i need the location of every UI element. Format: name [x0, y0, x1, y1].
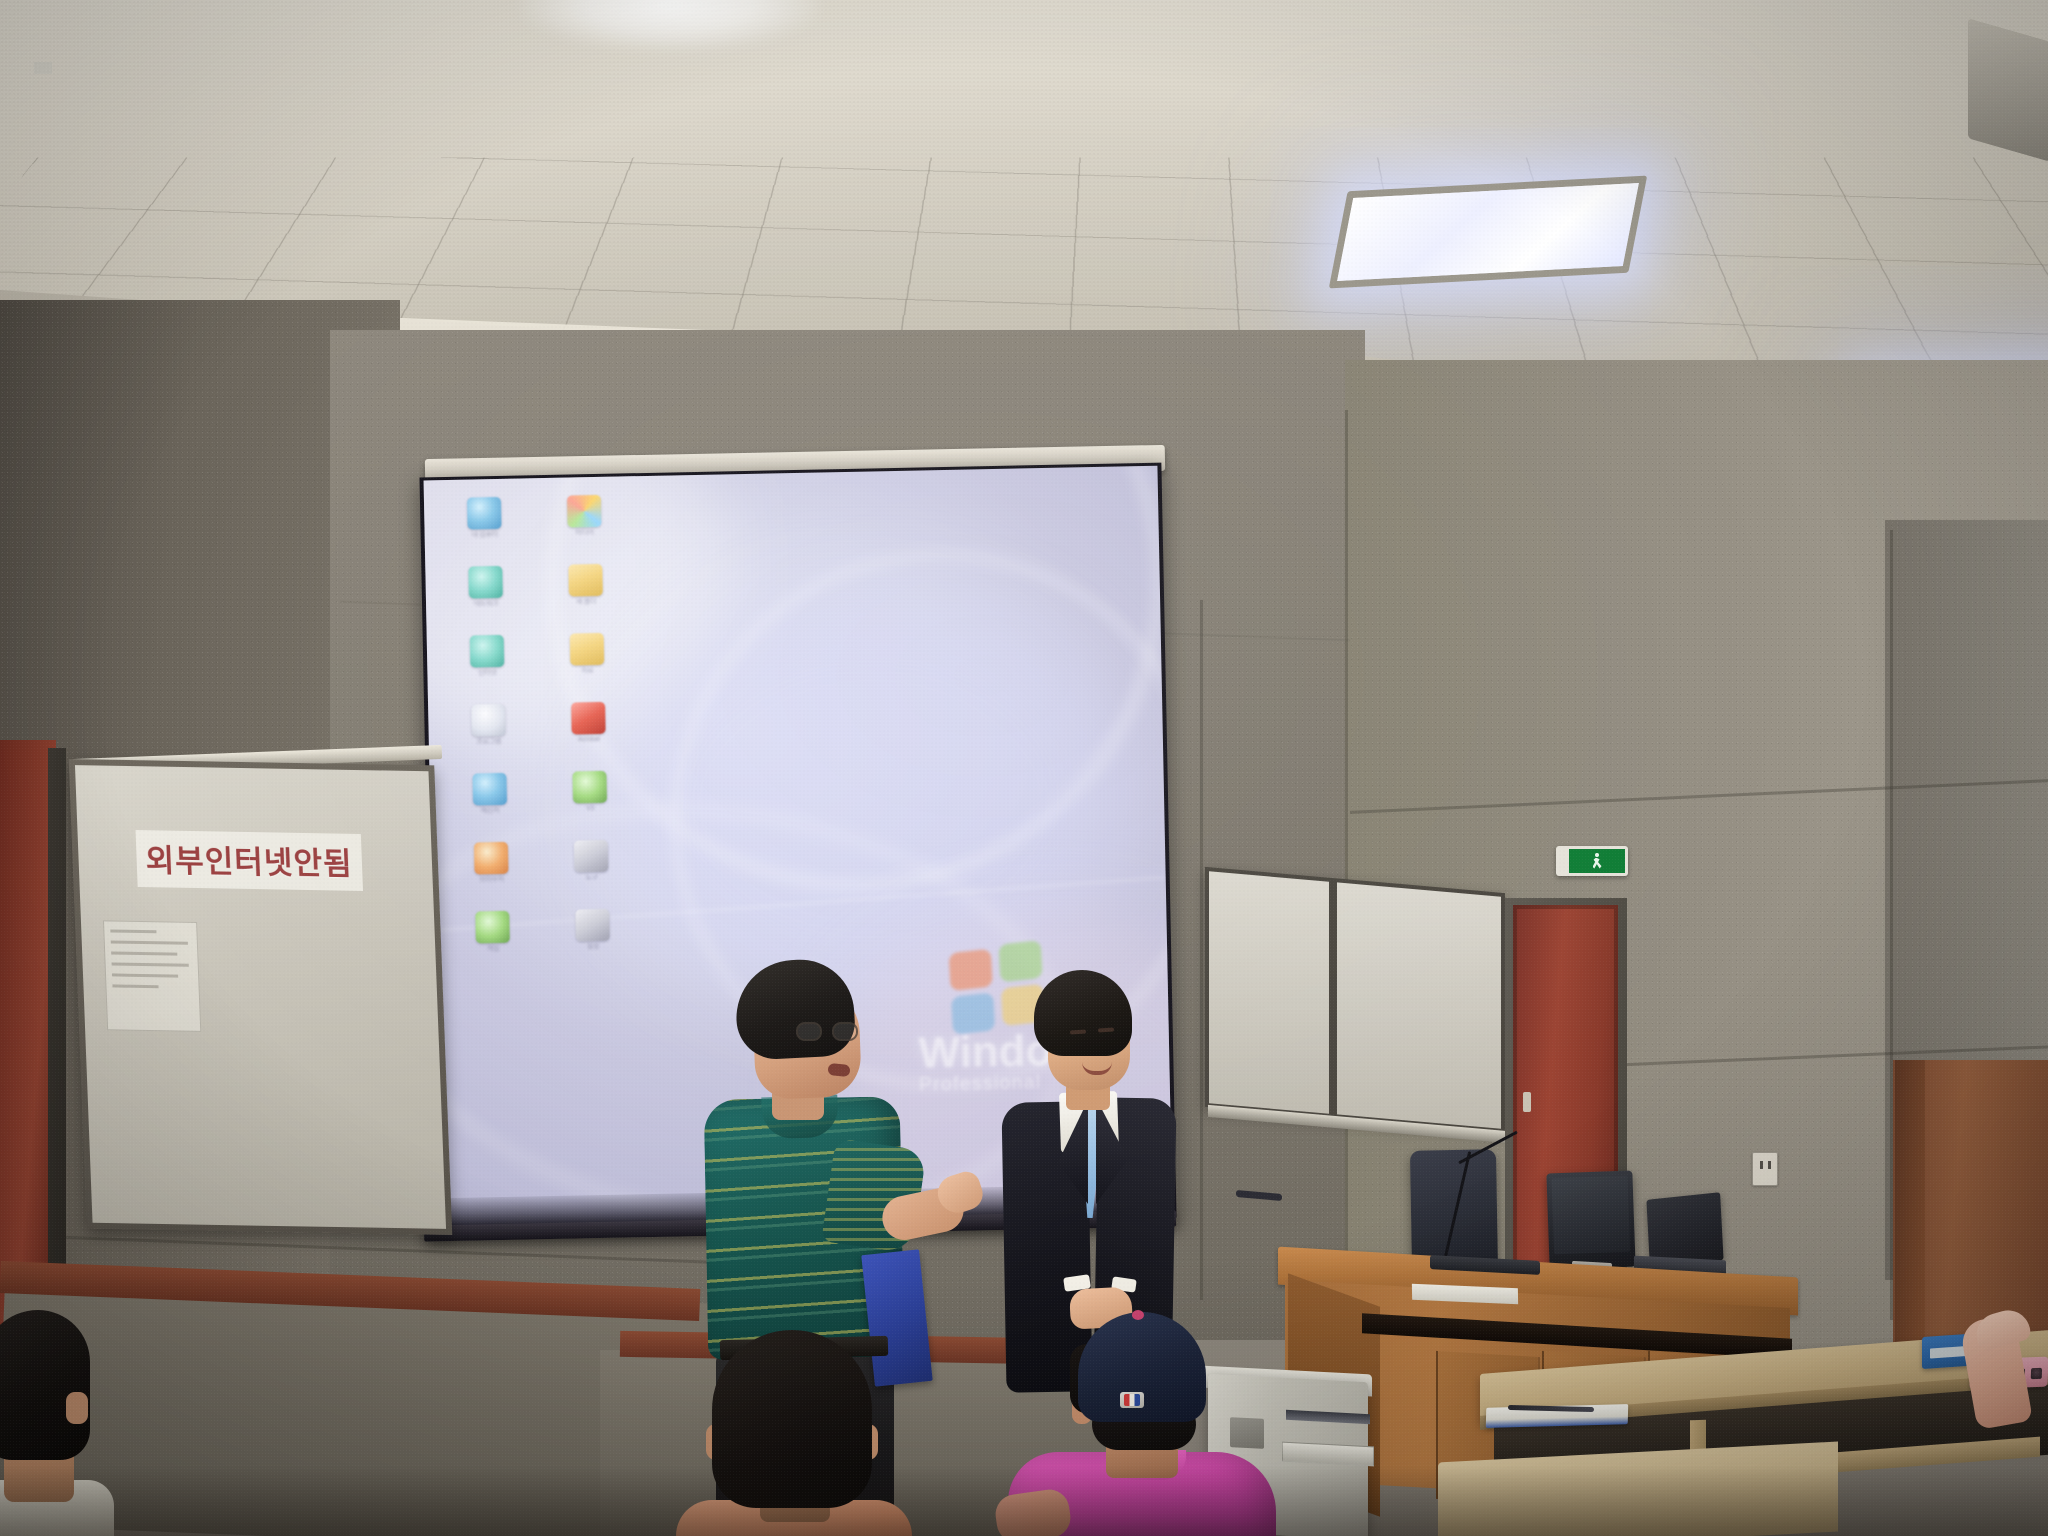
ceiling-light-glow-left — [520, 0, 820, 50]
game-icon[interactable] — [475, 911, 510, 944]
emergency-exit-sign — [1556, 846, 1628, 876]
my-computer-icon[interactable] — [467, 497, 502, 530]
exit-sign-green-panel — [1569, 849, 1625, 873]
adobe-icon[interactable] — [571, 702, 606, 735]
whiteboard-left-surface[interactable]: 외부인터넷안됨 — [75, 765, 446, 1229]
ceiling-mounted-device — [1968, 18, 2048, 162]
lecture-hall-photo: 내 컴퓨터 미디어 네트워크 새 폴더 인터넷 자료 프로그램 Acrobat … — [0, 0, 2048, 1536]
antivirus-icon[interactable] — [572, 771, 607, 804]
ceiling-light-panel-1 — [1329, 176, 1647, 289]
folder-icon[interactable] — [570, 633, 605, 666]
wood-wall-panel-right-edge — [1895, 1060, 1925, 1360]
desktop-icon[interactable]: 도구 — [545, 839, 638, 884]
desktop-icon[interactable]: Acrobat — [542, 701, 635, 746]
wall-seam-vertical-1 — [1200, 600, 1203, 1300]
messenger-icon[interactable] — [472, 773, 507, 806]
posted-paper-notice — [103, 920, 201, 1032]
whiteboard-right-panel-b[interactable] — [1337, 882, 1501, 1128]
paper-text-line — [111, 951, 177, 955]
desktop-icon[interactable]: 메신저 — [443, 772, 536, 817]
desktop-icon[interactable]: 인터넷 — [441, 634, 534, 679]
paper-text-line — [110, 929, 157, 933]
audience-left-head — [0, 1310, 90, 1460]
cap-button-icon — [1132, 1310, 1144, 1320]
whiteboard-left-frame: 외부인터넷안됨 — [69, 759, 453, 1235]
app-icon[interactable] — [471, 704, 506, 737]
door-handle[interactable] — [1523, 1092, 1531, 1112]
notice-sign-text: 외부인터넷안됨 — [145, 835, 354, 884]
paper-text-line — [111, 940, 188, 944]
desktop-icon[interactable]: 프로그램 — [442, 703, 535, 748]
presenter2-hair — [1034, 970, 1132, 1056]
desktop-icon[interactable]: 설정 — [546, 908, 639, 953]
desktop-icon[interactable]: 네트워크 — [439, 565, 532, 610]
notice-sign: 외부인터넷안됨 — [135, 830, 362, 891]
paper-text-line — [112, 984, 159, 988]
monitor-screen — [1552, 1176, 1631, 1255]
firefox-icon[interactable] — [474, 842, 509, 875]
presenter1-mouth — [827, 1063, 850, 1077]
eyeglasses-icon — [796, 1022, 860, 1042]
desktop-monitor[interactable] — [1546, 1171, 1635, 1270]
presenter1-blue-folder — [861, 1249, 932, 1386]
desktop-icon[interactable]: 브라우저 — [445, 841, 538, 886]
desktop-icon[interactable]: 새 폴더 — [539, 563, 632, 608]
desktop-icon[interactable]: V3 — [543, 770, 636, 815]
settings-icon[interactable] — [575, 909, 610, 942]
wall-outlet-right[interactable] — [1752, 1152, 1778, 1186]
desktop-icon[interactable]: 미디어 — [538, 494, 631, 539]
presenter1-hair — [734, 957, 857, 1061]
whiteboard-right-frame — [1205, 867, 1505, 1133]
desktop-icon[interactable]: 내 컴퓨터 — [438, 496, 531, 541]
mlb-logo-icon — [1124, 1394, 1140, 1406]
utility-icon[interactable] — [574, 840, 609, 873]
whiteboard-right-panel-a[interactable] — [1209, 871, 1329, 1113]
paper-text-line — [112, 962, 189, 966]
monitor-brand-badge — [34, 62, 52, 74]
printer-control-panel[interactable] — [1230, 1417, 1264, 1449]
folder-icon[interactable] — [568, 564, 603, 597]
network-icon[interactable] — [468, 566, 503, 599]
desktop-icon[interactable]: 자료 — [541, 632, 634, 677]
audience-center-head — [712, 1330, 872, 1508]
running-person-icon — [1593, 853, 1602, 870]
audience-left-ear — [66, 1392, 88, 1424]
paper-text-line — [112, 973, 178, 977]
media-player-icon[interactable] — [567, 495, 602, 528]
desktop-icon-grid[interactable]: 내 컴퓨터 미디어 네트워크 새 폴더 인터넷 자료 프로그램 Acrobat … — [434, 488, 643, 961]
desktop-icon[interactable]: 게임 — [446, 910, 539, 955]
internet-icon[interactable] — [470, 635, 505, 668]
